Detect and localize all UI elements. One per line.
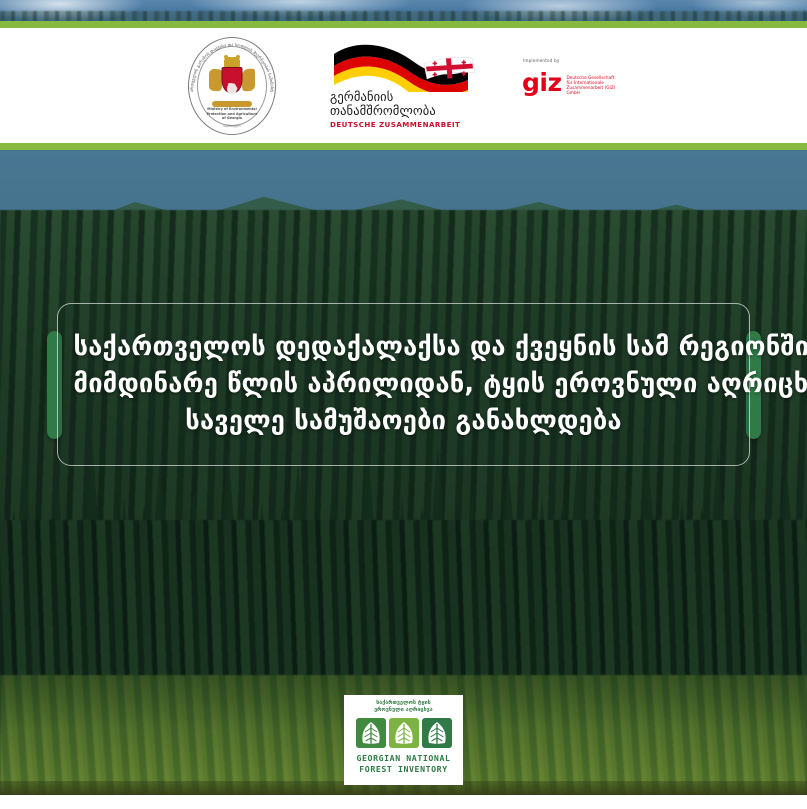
top-photo-sliver [0, 0, 807, 21]
german-cooperation-text: გერმანიის თანამშრომლობა DEUTSCHE ZUSAMME… [328, 90, 478, 129]
german-georgian-flag-wave-icon [328, 40, 478, 92]
headline-line-3: საველე სამუშაოები განახლდება [74, 403, 734, 440]
german-title-line1: გერმანიის [330, 90, 478, 104]
crown-icon [224, 58, 240, 67]
gnfi-en-line2: FOREST INVENTORY [348, 764, 460, 775]
leaf-icon-1 [356, 718, 386, 748]
ministry-caption: Ministry of Environmental Protection and… [201, 107, 263, 120]
gnfi-english-text: GEORGIAN NATIONAL FOREST INVENTORY [348, 753, 460, 774]
leaf-glyph-2-icon [393, 721, 415, 745]
gnfi-leaf-marks [356, 718, 452, 748]
gnfi-ka-line1: საქართველოს ტყის [350, 700, 458, 707]
green-divider-bottom [0, 143, 807, 150]
giz-desc-line3: Zusammenarbeit (GIZ) GmbH [567, 85, 627, 95]
gnfi-ka-line2: ეროვნული აღრიცხვა [350, 707, 458, 714]
leaf-glyph-1-icon [360, 721, 382, 745]
headline-line-2: მიმდინარე წლის აპრილიდან, ტყის ეროვნული … [74, 366, 734, 403]
leaf-glyph-3-icon [426, 721, 448, 745]
headline-plate: საქართველოს დედაქალაქსა და ქვეყნის სამ რ… [57, 303, 750, 466]
ministry-sub-label: საქართველო [223, 124, 241, 128]
giz-mark-wrap: giz Deutsche Gesellschaft für Internatio… [522, 72, 627, 96]
ministry-of-environment-logo: საქართველოს გარემოს დაცვისა და სოფლის მე… [180, 36, 284, 136]
german-cooperation-logo: გერმანიის თანამშრომლობა DEUTSCHE ZUSAMME… [328, 38, 478, 133]
bottom-white-band [0, 795, 807, 809]
st-george-rider-icon [227, 83, 238, 96]
georgian-national-forest-inventory-logo: საქართველოს ტყის ეროვნული აღრიცხვა [344, 695, 463, 785]
georgian-coat-of-arms-icon [208, 57, 256, 105]
gnfi-georgian-text: საქართველოს ტყის ეროვნული აღრიცხვა [350, 700, 458, 714]
motto-ribbon-icon [212, 101, 252, 107]
headline-line-1: საქართველოს დედაქალაქსა და ქვეყნის სამ რ… [74, 329, 734, 366]
lion-right-icon [242, 68, 255, 91]
logo-header: საქართველოს გარემოს დაცვისა და სოფლის მე… [0, 28, 807, 143]
giz-description: Deutsche Gesellschaft für Internationale… [567, 72, 627, 96]
giz-implemented-by-label: Implemented by [523, 58, 559, 63]
german-title-line2: თანამშრომლობა [330, 104, 478, 118]
top-sliver-treeline [0, 11, 807, 21]
leaf-icon-3 [422, 718, 452, 748]
giz-wordmark: giz [522, 72, 562, 93]
green-divider-top [0, 21, 807, 28]
shield-icon [222, 67, 243, 93]
giz-logo: Implemented by giz Deutsche Gesellschaft… [522, 56, 627, 116]
lion-left-icon [209, 68, 222, 91]
headline-text: საქართველოს დედაქალაქსა და ქვეყნის სამ რ… [74, 329, 734, 440]
poster-canvas: საქართველოს გარემოს დაცვისა და სოფლის მე… [0, 0, 807, 809]
gnfi-en-line1: GEORGIAN NATIONAL [348, 753, 460, 764]
german-subtitle: DEUTSCHE ZUSAMMENARBEIT [330, 120, 478, 129]
leaf-icon-2 [389, 718, 419, 748]
ministry-caption-line3: of Georgia [201, 116, 263, 120]
